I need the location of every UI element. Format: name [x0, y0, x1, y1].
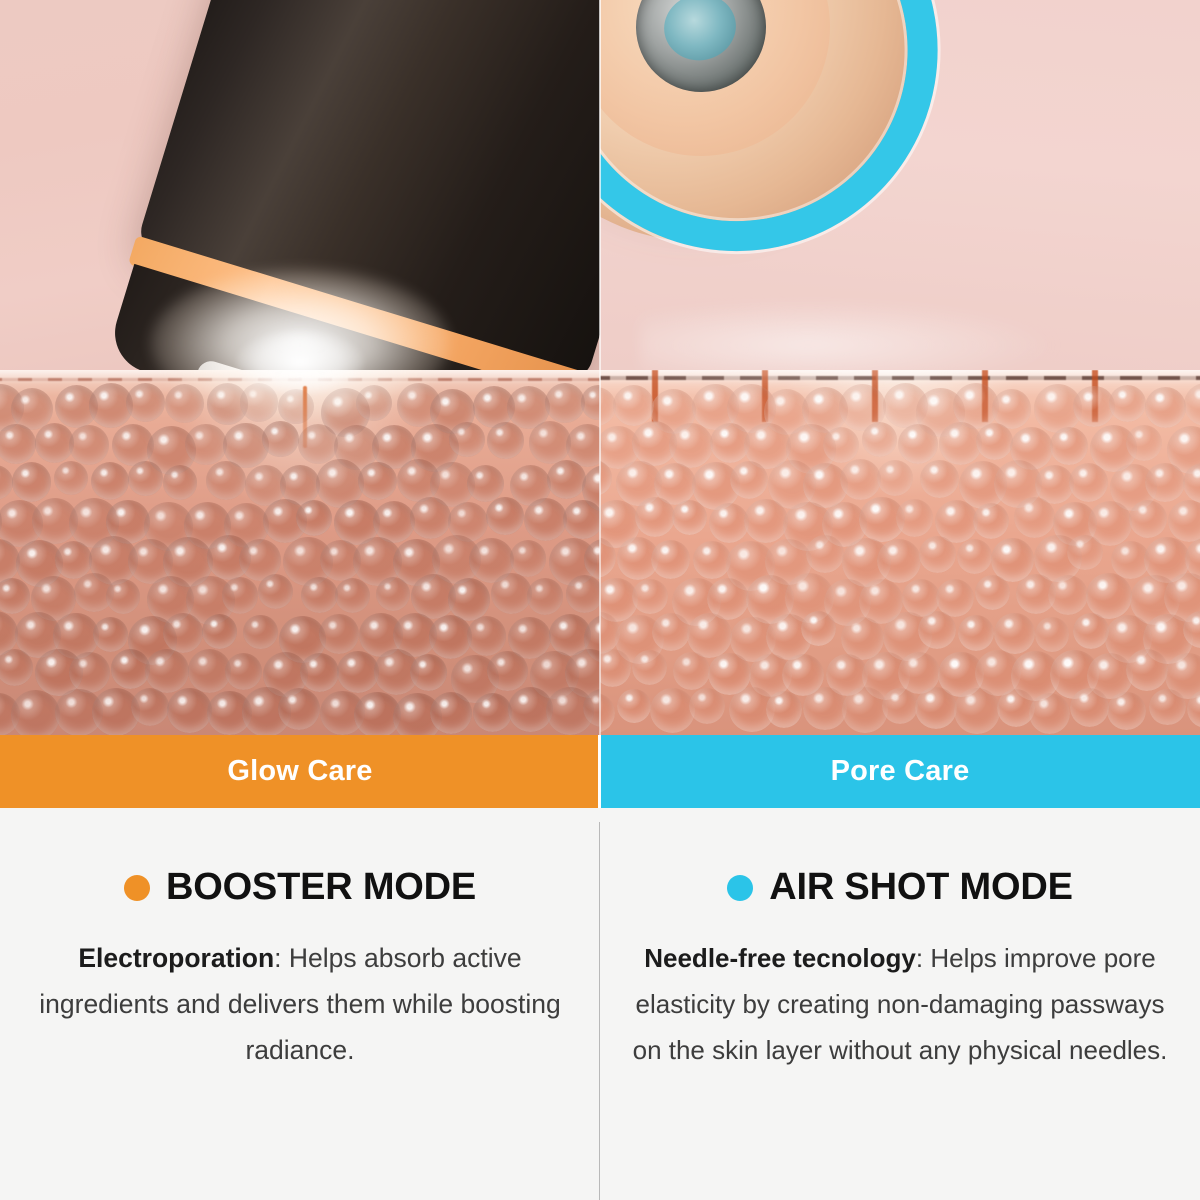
- skin-cell: [337, 651, 379, 693]
- image-divider: [599, 0, 601, 735]
- skin-cell: [709, 503, 749, 543]
- skin-cell: [994, 613, 1035, 654]
- skin-cell: [730, 461, 768, 499]
- skin-cell: [206, 461, 245, 500]
- booster-energy-stream: [303, 386, 307, 448]
- skin-cell: [840, 459, 881, 500]
- skin-cell: [652, 613, 690, 651]
- skin-cell: [1035, 617, 1070, 652]
- right-skin-cells: [600, 386, 1200, 735]
- skin-cell: [376, 577, 411, 612]
- skin-cell: [491, 573, 532, 614]
- skin-cell: [243, 615, 277, 649]
- skin-cell: [973, 503, 1009, 539]
- booster-glow-core: [236, 330, 364, 394]
- banner-divider: [598, 735, 601, 808]
- skin-cell: [0, 424, 36, 463]
- bullet-dot-icon: [124, 875, 150, 901]
- skin-cell: [1067, 535, 1103, 571]
- skin-cell: [0, 578, 30, 614]
- skin-cell: [429, 615, 473, 659]
- banner-pore-care[interactable]: Pore Care: [600, 735, 1200, 808]
- skin-cell: [957, 539, 993, 575]
- skin-cell: [1107, 692, 1145, 730]
- skin-cell: [650, 688, 695, 733]
- skin-cell: [91, 462, 129, 500]
- skin-cell: [225, 653, 262, 690]
- hero-imagery: [0, 0, 1200, 735]
- skin-cell: [473, 693, 512, 732]
- skin-cell: [766, 691, 802, 727]
- skin-cell: [547, 460, 586, 499]
- skin-cell: [877, 539, 921, 583]
- skin-cell: [487, 651, 527, 691]
- air-shot-mode-title: AIR SHOT MODE: [769, 866, 1073, 909]
- skin-cell: [954, 688, 1000, 734]
- skin-cell: [449, 422, 484, 457]
- skin-cell: [673, 652, 710, 689]
- skin-cell: [600, 693, 615, 733]
- skin-cell: [566, 575, 600, 612]
- banner-glow-care-label: Glow Care: [227, 755, 372, 788]
- banner-glow-care[interactable]: Glow Care: [0, 735, 600, 808]
- skin-cell: [613, 385, 654, 426]
- skin-cell: [1145, 463, 1185, 503]
- skin-cell: [448, 578, 491, 621]
- booster-mode-title: BOOSTER MODE: [166, 866, 476, 909]
- skin-cell: [467, 465, 504, 502]
- skin-cell: [410, 654, 447, 691]
- skin-cell: [54, 461, 89, 496]
- skin-cell: [262, 421, 298, 457]
- skin-cell: [467, 616, 507, 656]
- skin-cell: [410, 497, 452, 539]
- copy-divider: [599, 822, 600, 1200]
- skin-cell: [185, 424, 226, 465]
- skin-cell: [11, 690, 61, 735]
- skin-cell: [635, 497, 675, 537]
- skin-cell: [617, 689, 651, 723]
- skin-cell: [278, 688, 320, 730]
- skin-cell: [126, 383, 165, 422]
- skin-cell: [651, 540, 690, 579]
- skin-cell: [1168, 500, 1200, 542]
- skin-cell: [801, 611, 836, 646]
- skin-cell: [69, 425, 109, 465]
- product-feature-panel: Glow Care Pore Care BOOSTER MODE Electro…: [0, 0, 1200, 1200]
- skin-cell: [1048, 575, 1088, 615]
- skin-cell: [958, 615, 994, 651]
- booster-mode-heading: BOOSTER MODE: [24, 866, 576, 909]
- air-shot-mode-separator: :: [916, 943, 930, 973]
- skin-cell: [975, 575, 1010, 610]
- skin-cell: [545, 383, 585, 423]
- left-skin-cells: [0, 386, 600, 735]
- skin-cell: [296, 500, 332, 536]
- skin-cell: [319, 614, 359, 654]
- skin-cell: [1014, 497, 1055, 538]
- skin-cell: [823, 427, 859, 463]
- skin-cell: [145, 649, 189, 693]
- skin-cell: [430, 692, 472, 734]
- skin-cell: [882, 688, 918, 724]
- skin-cell: [1086, 573, 1132, 619]
- mode-descriptions: BOOSTER MODE Electroporation: Helps abso…: [0, 808, 1200, 1200]
- care-banners: Glow Care Pore Care: [0, 735, 1200, 808]
- skin-cell: [842, 687, 888, 733]
- skin-cell: [202, 614, 237, 649]
- skin-cell: [806, 535, 844, 573]
- skin-cell: [486, 497, 524, 535]
- skin-cell: [1129, 500, 1167, 538]
- booster-mode-description: Electroporation: Helps absorb active ing…: [24, 935, 576, 1073]
- skin-cell: [915, 687, 957, 729]
- skin-cell: [693, 541, 730, 578]
- skin-cell: [689, 688, 725, 724]
- left-skin-cross-section: [0, 370, 600, 735]
- skin-cell: [301, 577, 338, 614]
- skin-cell: [167, 688, 212, 733]
- bullet-dot-icon: [727, 875, 753, 901]
- skin-cell: [527, 578, 564, 615]
- air-shot-mode-heading: AIR SHOT MODE: [624, 866, 1176, 909]
- skin-cell: [335, 578, 370, 613]
- skin-cell: [632, 579, 668, 615]
- skin-cell: [163, 465, 198, 500]
- skin-cell: [12, 462, 52, 502]
- skin-cell: [163, 613, 203, 653]
- skin-cell: [258, 574, 293, 609]
- skin-cell: [524, 498, 567, 541]
- skin-cell: [744, 499, 789, 544]
- skin-cell: [1109, 385, 1147, 423]
- skin-cell: [1126, 425, 1161, 460]
- skin-cell: [669, 423, 714, 468]
- banner-pore-care-label: Pore Care: [831, 755, 970, 788]
- air-shot-mode-term: Needle-free tecnology: [644, 943, 916, 973]
- skin-cell: [600, 649, 631, 687]
- skin-cell: [918, 611, 957, 650]
- air-shot-mode-column: AIR SHOT MODE Needle-free tecnology: Hel…: [600, 808, 1200, 1200]
- skin-cell: [920, 460, 959, 499]
- air-shot-mode-description: Needle-free tecnology: Helps improve por…: [624, 935, 1176, 1073]
- skin-cell: [0, 649, 33, 686]
- skin-cell: [55, 541, 92, 578]
- skin-cell: [563, 500, 600, 539]
- skin-cell: [1184, 383, 1200, 426]
- pore-care-image: [600, 0, 1200, 735]
- skin-cell: [672, 500, 707, 535]
- skin-cell: [131, 688, 169, 726]
- skin-cell: [1070, 688, 1109, 727]
- skin-cell: [687, 613, 732, 658]
- skin-cell: [1145, 387, 1186, 428]
- skin-cell: [1149, 689, 1185, 725]
- skin-cell: [106, 579, 141, 614]
- skin-cell: [898, 424, 938, 464]
- skin-cell: [803, 687, 847, 731]
- skin-cell: [487, 422, 523, 458]
- skin-cell: [529, 421, 571, 463]
- skin-cell: [111, 649, 150, 688]
- skin-cell: [69, 652, 110, 693]
- skin-cell: [128, 461, 162, 495]
- skin-cell: [581, 385, 600, 420]
- skin-cell: [896, 499, 934, 537]
- skin-cell: [976, 423, 1013, 460]
- air-shot-mist: [640, 300, 1060, 390]
- glow-care-image: [0, 0, 600, 735]
- skin-cell: [877, 460, 913, 496]
- skin-cell: [1029, 693, 1070, 734]
- skin-cell: [358, 462, 396, 500]
- skin-cell: [632, 650, 667, 685]
- skin-cell: [510, 540, 547, 577]
- skin-cell: [862, 422, 897, 457]
- skin-cell: [919, 536, 956, 573]
- skin-cell: [222, 577, 258, 613]
- skin-cell: [300, 653, 339, 692]
- right-skin-cross-section: [600, 370, 1200, 735]
- skin-cell: [1050, 427, 1088, 465]
- skin-cell: [93, 617, 128, 652]
- booster-mode-term: Electroporation: [78, 943, 274, 973]
- skin-cell: [1126, 649, 1168, 691]
- booster-mode-separator: :: [274, 943, 289, 973]
- booster-mode-column: BOOSTER MODE Electroporation: Helps abso…: [0, 808, 600, 1200]
- skin-cell: [1069, 463, 1108, 502]
- skin-cell: [1073, 613, 1109, 649]
